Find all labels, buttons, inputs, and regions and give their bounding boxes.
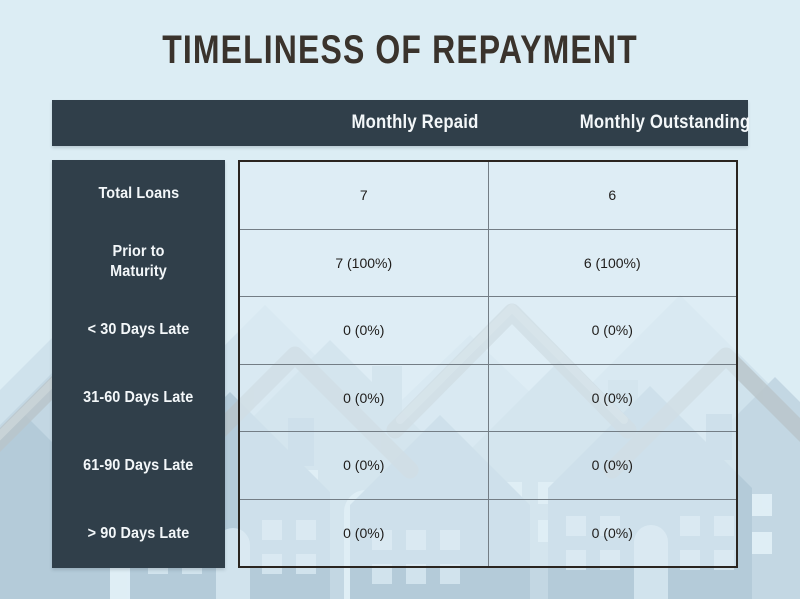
row-label-31-60-days-late: 31-60 Days Late xyxy=(52,364,225,432)
cell-total-loans-monthly-outstanding: 6 xyxy=(489,162,737,229)
table-row: 7 6 xyxy=(240,162,736,230)
row-label-text: < 30 Days Late xyxy=(88,320,190,340)
row-label-over-90-days-late: > 90 Days Late xyxy=(52,500,225,568)
row-label-total-loans: Total Loans xyxy=(52,160,225,228)
table-row: 0 (0%) 0 (0%) xyxy=(240,365,736,433)
infographic-canvas: TIMELINESS OF REPAYMENT Monthly Repaid M… xyxy=(0,0,800,599)
column-header-monthly-outstanding: Monthly Outstanding xyxy=(555,100,775,146)
cell-31-60-days-late-monthly-repaid: 0 (0%) xyxy=(240,365,489,432)
row-label-text: Total Loans xyxy=(98,184,179,204)
row-label-text: > 90 Days Late xyxy=(88,524,190,544)
row-label-under-30-days-late: < 30 Days Late xyxy=(52,296,225,364)
cell-under-30-days-late-monthly-repaid: 0 (0%) xyxy=(240,297,489,364)
page-title: TIMELINESS OF REPAYMENT xyxy=(80,28,720,73)
cell-prior-to-maturity-monthly-repaid: 7 (100%) xyxy=(240,230,489,297)
cell-61-90-days-late-monthly-repaid: 0 (0%) xyxy=(240,432,489,499)
cell-61-90-days-late-monthly-outstanding: 0 (0%) xyxy=(489,432,737,499)
table-row: 0 (0%) 0 (0%) xyxy=(240,500,736,567)
row-label-text: 31-60 Days Late xyxy=(83,388,193,408)
row-label-61-90-days-late: 61-90 Days Late xyxy=(52,432,225,500)
row-label-prior-to-maturity: Prior to Maturity xyxy=(52,228,225,296)
table-row: 0 (0%) 0 (0%) xyxy=(240,297,736,365)
table-row: 7 (100%) 6 (100%) xyxy=(240,230,736,298)
cell-over-90-days-late-monthly-repaid: 0 (0%) xyxy=(240,500,489,567)
row-label-panel: Total Loans Prior to Maturity < 30 Days … xyxy=(52,160,225,568)
row-label-text-line1: Prior to xyxy=(110,242,167,262)
table-header-bar: Monthly Repaid Monthly Outstanding xyxy=(52,100,748,146)
column-header-monthly-repaid: Monthly Repaid xyxy=(305,100,525,146)
cell-over-90-days-late-monthly-outstanding: 0 (0%) xyxy=(489,500,737,567)
cell-31-60-days-late-monthly-outstanding: 0 (0%) xyxy=(489,365,737,432)
cell-prior-to-maturity-monthly-outstanding: 6 (100%) xyxy=(489,230,737,297)
cell-under-30-days-late-monthly-outstanding: 0 (0%) xyxy=(489,297,737,364)
row-label-text: 61-90 Days Late xyxy=(83,456,193,476)
data-table: 7 6 7 (100%) 6 (100%) 0 (0%) 0 (0%) 0 (0… xyxy=(238,160,738,568)
row-label-text-line2: Maturity xyxy=(110,262,167,282)
table-row: 0 (0%) 0 (0%) xyxy=(240,432,736,500)
cell-total-loans-monthly-repaid: 7 xyxy=(240,162,489,229)
